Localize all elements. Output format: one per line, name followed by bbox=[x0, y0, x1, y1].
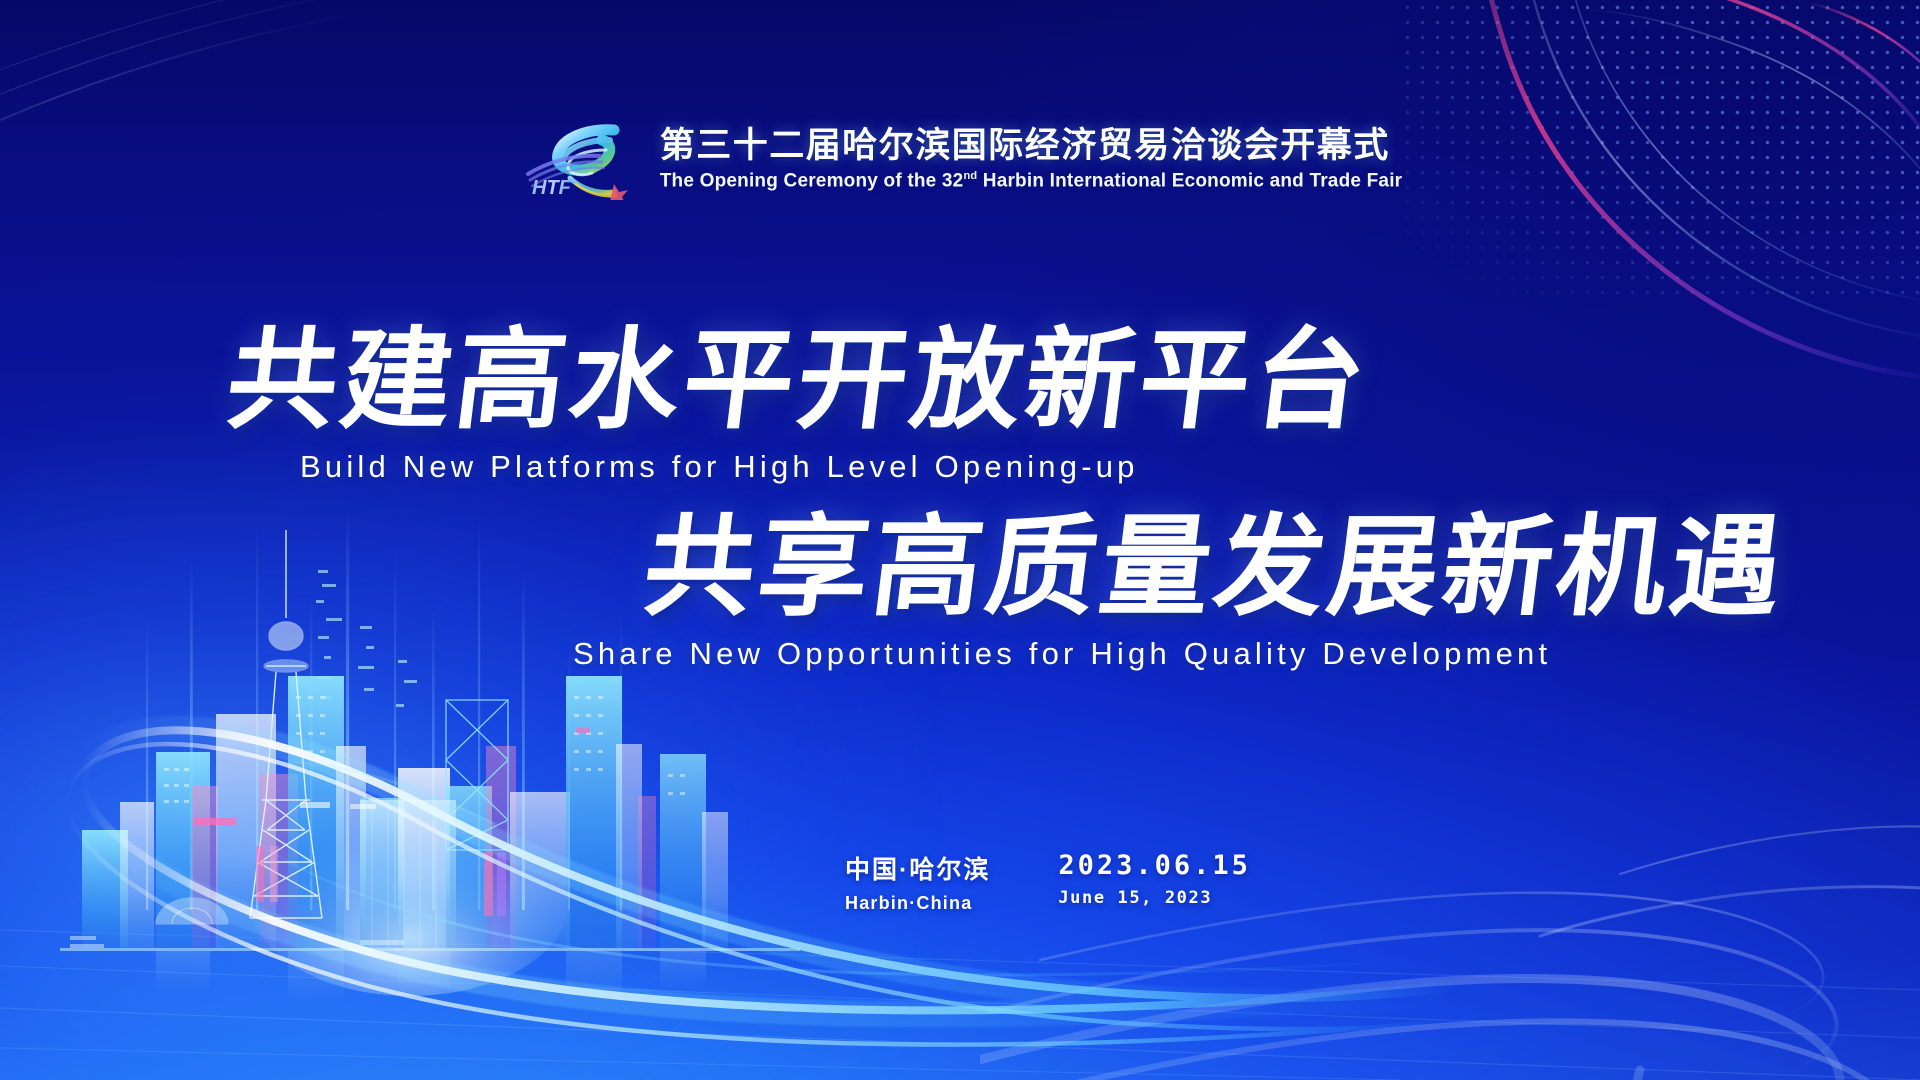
ordinal-suffix: nd bbox=[963, 170, 977, 182]
header-text-block: 第三十二届哈尔滨国际经济贸易洽谈会开幕式 The Opening Ceremon… bbox=[660, 126, 1403, 193]
slogan-1-en: Build New Platforms for High Level Openi… bbox=[300, 449, 1368, 485]
date-english: June 15, 2023 bbox=[1058, 888, 1251, 908]
event-place: 中国·哈尔滨 Harbin·China bbox=[845, 850, 990, 914]
event-header: HTF 第三十二届哈尔滨国际经济贸易洽谈会开幕式 The Opening Cer… bbox=[0, 118, 1920, 200]
slogan-block-2: 共享高质量发展新机遇 Share New Opportunities for H… bbox=[645, 512, 1785, 672]
event-title-en: The Opening Ceremony of the 32nd Harbin … bbox=[660, 170, 1403, 192]
event-title-en-pre: The Opening Ceremony of the 32 bbox=[660, 170, 964, 191]
place-cn: 中国·哈尔滨 bbox=[845, 850, 990, 886]
event-date: 2023.06.15 June 15, 2023 bbox=[1058, 850, 1251, 908]
logo-wordmark: HTF bbox=[532, 177, 572, 199]
glowing-light-ribbon bbox=[0, 630, 1460, 1050]
poster-canvas: HTF 第三十二届哈尔滨国际经济贸易洽谈会开幕式 The Opening Cer… bbox=[0, 0, 1920, 1080]
slogan-2-en: Share New Opportunities for High Quality… bbox=[573, 636, 1785, 672]
place-en: Harbin·China bbox=[845, 893, 990, 914]
slogan-2-cn: 共享高质量发展新机遇 bbox=[638, 512, 1792, 622]
event-title-cn: 第三十二届哈尔滨国际经济贸易洽谈会开幕式 bbox=[660, 126, 1390, 165]
event-info-row: 中国·哈尔滨 Harbin·China 2023.06.15 June 15, … bbox=[845, 850, 1251, 914]
date-numeric: 2023.06.15 bbox=[1058, 850, 1251, 881]
htf-swoosh-logo: HTF bbox=[518, 118, 638, 200]
event-title-en-post: Harbin International Economic and Trade … bbox=[977, 170, 1402, 191]
slogan-1-cn: 共建高水平开放新平台 bbox=[221, 325, 1375, 435]
slogan-block-1: 共建高水平开放新平台 Build New Platforms for High … bbox=[228, 325, 1368, 485]
